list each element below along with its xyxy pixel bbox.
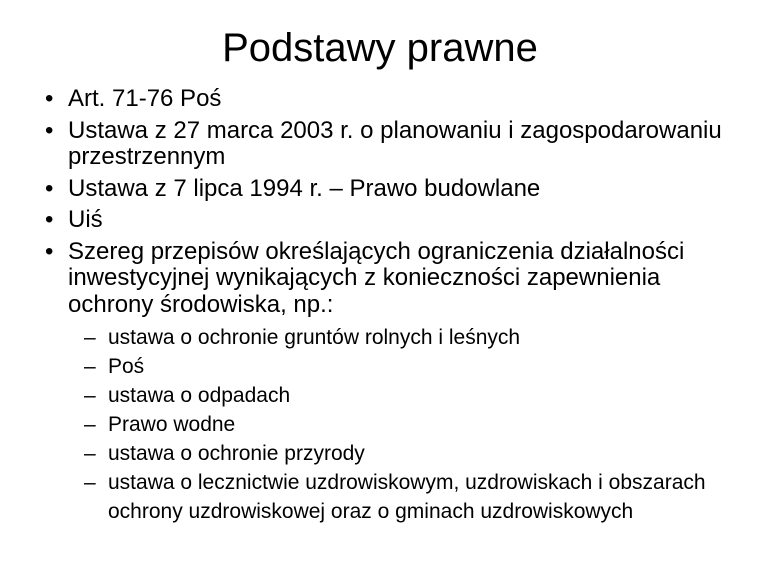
page-title: Podstawy prawne [0, 23, 760, 73]
dash-marker-icon: – [84, 468, 96, 497]
sub-list-item: – ustawa o ochronie przyrody [40, 439, 730, 468]
bullet-marker-icon: • [45, 86, 59, 113]
sub-list: – ustawa o ochronie gruntów rolnych i le… [40, 323, 730, 526]
list-item-label: Ustawa z 7 lipca 1994 r. – Prawo budowla… [68, 175, 540, 202]
slide-body-content: • Art. 71-76 Poś • Ustawa z 27 marca 200… [40, 86, 730, 526]
slide-canvas: Podstawy prawne • Art. 71-76 Poś • Ustaw… [0, 0, 760, 570]
dash-marker-icon: – [84, 352, 96, 381]
sub-list-item: – ustawa o ochronie gruntów rolnych i le… [40, 323, 730, 352]
sub-list-item-label: Prawo wodne [108, 413, 235, 436]
list-item: • Art. 71-76 Poś [40, 86, 730, 113]
bullet-marker-icon: • [45, 176, 59, 203]
bullet-marker-icon: • [45, 207, 59, 234]
list-item-label: Szereg przepisów określających ogranicze… [68, 238, 684, 318]
sub-list-item-label: ustawa o lecznictwie uzdrowiskowym, uzdr… [108, 471, 706, 523]
dash-marker-icon: – [84, 439, 96, 468]
list-item-label: Ustawa z 27 marca 2003 r. o planowaniu i… [68, 117, 722, 171]
list-item: • Uiś [40, 207, 730, 234]
list-item: • Ustawa z 7 lipca 1994 r. – Prawo budow… [40, 176, 730, 203]
list-item: • Szereg przepisów określających ogranic… [40, 239, 730, 319]
sub-list-item-label: ustawa o ochronie przyrody [108, 442, 365, 465]
dash-marker-icon: – [84, 323, 96, 352]
bullet-marker-icon: • [45, 239, 59, 266]
sub-list-item: – ustawa o odpadach [40, 381, 730, 410]
sub-list-item-label: ustawa o odpadach [108, 384, 290, 407]
sub-list-item-label: ustawa o ochronie gruntów rolnych i leśn… [108, 326, 520, 349]
sub-list-item-label: Poś [108, 355, 144, 378]
list-item-label: Uiś [68, 206, 103, 233]
dash-marker-icon: – [84, 381, 96, 410]
list-item: • Ustawa z 27 marca 2003 r. o planowaniu… [40, 118, 730, 171]
sub-list-item: – ustawa o lecznictwie uzdrowiskowym, uz… [40, 468, 730, 526]
list-item-label: Art. 71-76 Poś [68, 85, 221, 112]
dash-marker-icon: – [84, 410, 96, 439]
sub-list-item: – Prawo wodne [40, 410, 730, 439]
bullet-marker-icon: • [45, 118, 59, 145]
sub-list-item: – Poś [40, 352, 730, 381]
